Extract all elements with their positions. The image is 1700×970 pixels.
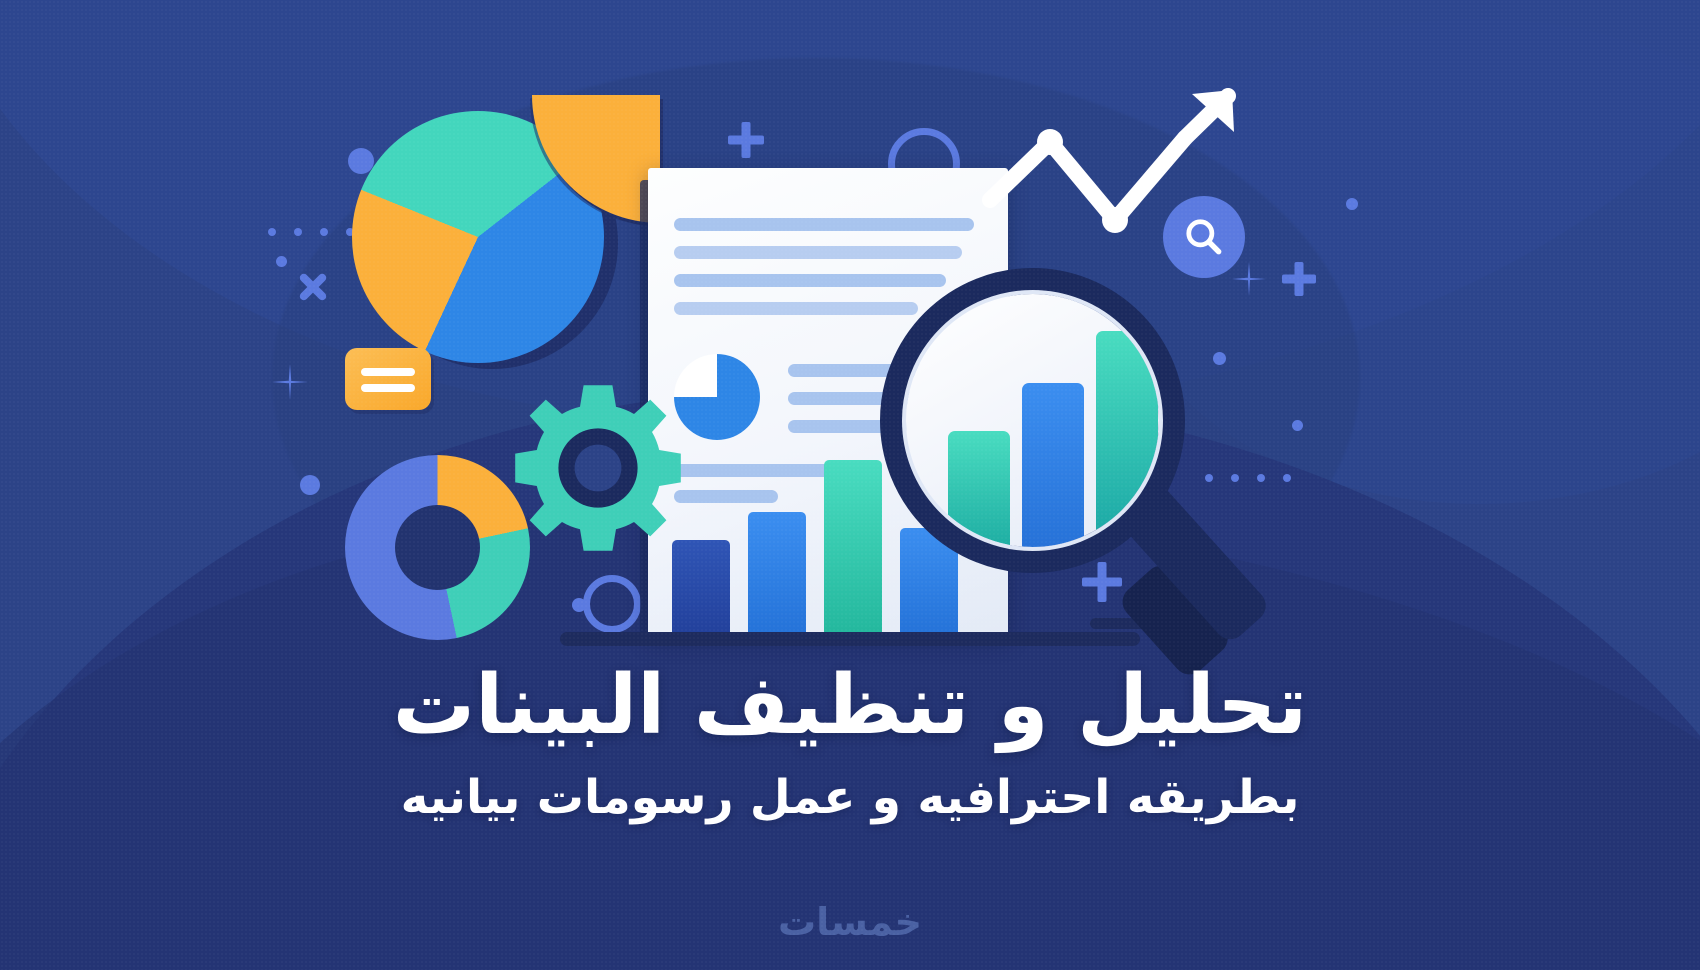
- page-title: تحليل و تنظيف البينات: [0, 660, 1700, 752]
- exploded-pie-chart: [352, 95, 632, 375]
- text-block: تحليل و تنظيف البينات بطريقه احترافيه و …: [0, 660, 1700, 826]
- decor-dot: [300, 475, 320, 495]
- decor-dot: [1346, 198, 1358, 210]
- donut-chart: [345, 455, 530, 640]
- list-card-icon: [345, 348, 431, 410]
- magnifier-rim: [880, 268, 1185, 573]
- decor-sparkle-icon: [1232, 262, 1266, 296]
- decor-dot-row: [1205, 474, 1291, 482]
- bar: [748, 512, 806, 636]
- decor-ring: [583, 575, 641, 633]
- decor-plus-icon: [728, 122, 764, 158]
- document-text-line: [674, 218, 974, 231]
- search-icon[interactable]: [1163, 196, 1245, 278]
- decor-sparkle-icon: [272, 364, 308, 400]
- decor-dot: [1292, 420, 1303, 431]
- donut-hole: [395, 505, 480, 590]
- service-banner: تحليل و تنظيف البينات بطريقه احترافيه و …: [0, 0, 1700, 970]
- magnifying-glass-icon: [880, 268, 1185, 573]
- page-subtitle: بطريقه احترافيه و عمل رسومات بيانيه: [0, 770, 1700, 826]
- document-baseline: [560, 632, 1140, 646]
- decor-dot: [1213, 352, 1226, 365]
- decor-dot: [276, 256, 287, 267]
- card-line: [361, 384, 415, 392]
- decor-cross-icon: [296, 270, 330, 304]
- decor-plus-icon: [1282, 262, 1316, 296]
- watermark-logo: خمسات: [0, 900, 1700, 944]
- decor-dot-row: [268, 228, 354, 236]
- card-line: [361, 368, 415, 376]
- document-text-line: [674, 246, 962, 259]
- bar: [824, 460, 882, 636]
- gear-icon: [508, 378, 688, 558]
